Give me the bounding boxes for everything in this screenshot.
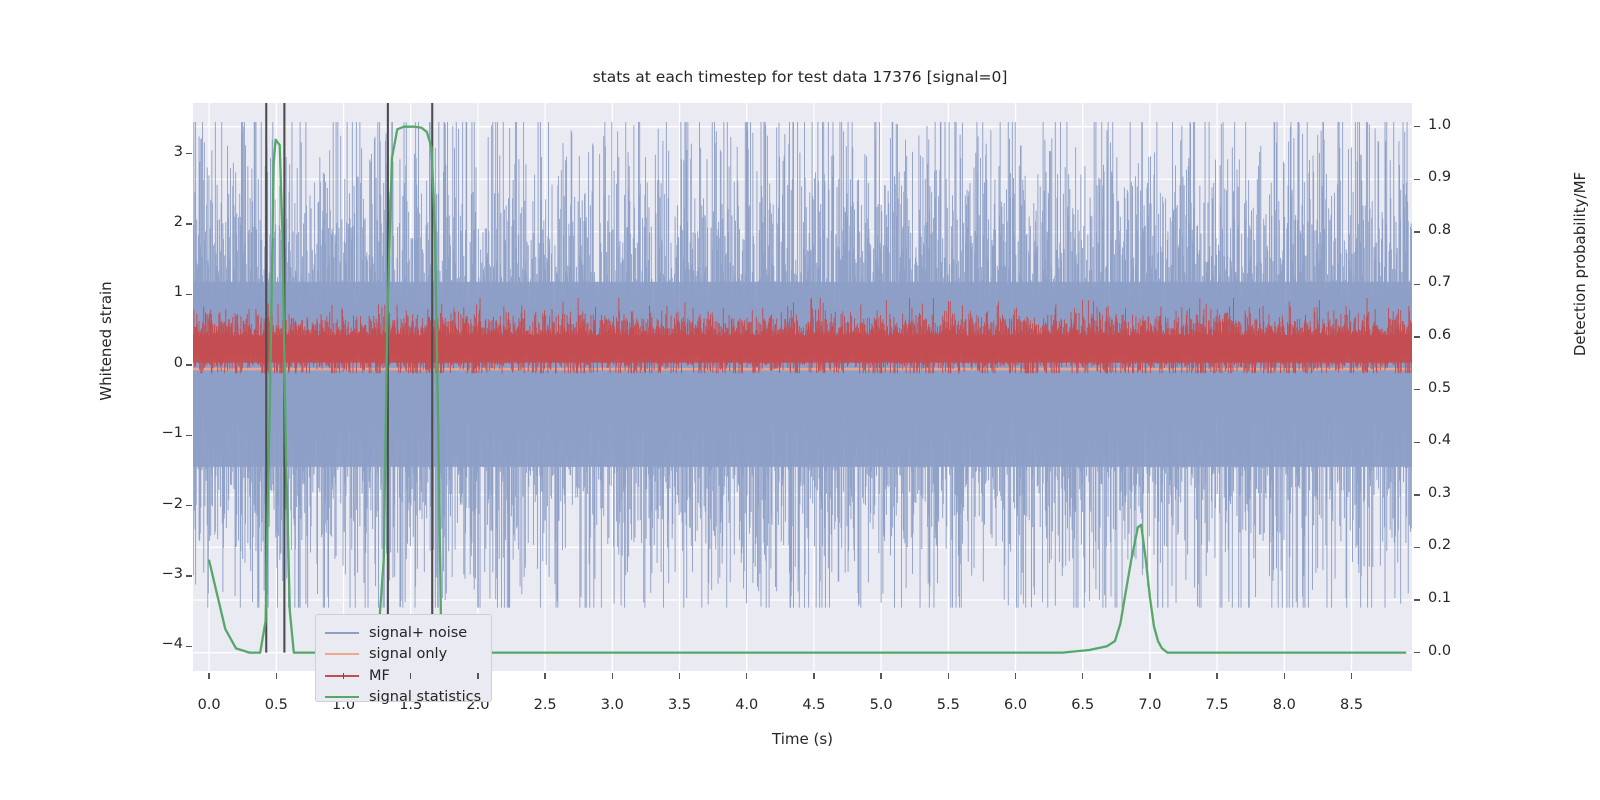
x-axis-tick-label: 0.0 — [179, 697, 239, 713]
x-axis-tick-mark — [544, 673, 545, 679]
x-axis-tick-label: 3.0 — [582, 697, 642, 713]
x-axis-tick-mark — [343, 673, 344, 679]
legend-item-signal-noise[interactable]: signal+ noise — [316, 622, 491, 644]
x-axis-tick-label: 6.5 — [1053, 697, 1113, 713]
y-axis-right-tick-label: 0.4 — [1428, 432, 1476, 448]
x-axis-tick-label: 6.0 — [986, 697, 1046, 713]
y-axis-right-tick-mark — [1414, 599, 1420, 600]
legend-swatch-signal-statistics — [325, 696, 359, 698]
y-axis-left-tick-mark — [186, 223, 192, 224]
x-axis-tick-label: 5.5 — [918, 697, 978, 713]
y-axis-left-label: Whitened strain — [97, 211, 115, 471]
x-axis-tick-mark — [276, 673, 277, 679]
x-axis-tick-mark — [746, 673, 747, 679]
y-axis-left-tick-label: 3 — [143, 144, 183, 160]
legend-item-signal-statistics[interactable]: signal statistics — [316, 687, 491, 709]
x-axis-tick-mark — [880, 673, 881, 679]
y-axis-left-tick-mark — [186, 364, 192, 365]
y-axis-left-tick-label: −4 — [143, 636, 183, 652]
y-axis-right-tick-label: 0.6 — [1428, 327, 1476, 343]
x-axis-tick-mark — [612, 673, 613, 679]
legend: signal+ noise signal only MF signal stat… — [315, 614, 492, 702]
legend-label-signal-noise: signal+ noise — [369, 625, 467, 641]
x-axis-tick-mark — [679, 673, 680, 679]
y-axis-right-tick-label: 1.0 — [1428, 117, 1476, 133]
legend-swatch-signal-only — [325, 653, 359, 655]
x-axis-tick-label: 3.5 — [650, 697, 710, 713]
x-axis-tick-mark — [208, 673, 209, 679]
y-axis-right-tick-mark — [1414, 126, 1420, 127]
x-axis-tick-mark — [813, 673, 814, 679]
x-axis-tick-label: 7.5 — [1187, 697, 1247, 713]
y-axis-right-tick-mark — [1414, 652, 1420, 653]
y-axis-right-tick-label: 0.9 — [1428, 169, 1476, 185]
y-axis-right-tick-label: 0.7 — [1428, 274, 1476, 290]
y-axis-right-tick-label: 0.3 — [1428, 485, 1476, 501]
y-axis-right-tick-label: 0.5 — [1428, 380, 1476, 396]
y-axis-right-tick-mark — [1414, 231, 1420, 232]
y-axis-right-tick-label: 0.1 — [1428, 590, 1476, 606]
plot-area — [193, 103, 1412, 671]
x-axis-tick-label: 2.5 — [515, 697, 575, 713]
x-axis-label: Time (s) — [193, 730, 1412, 748]
y-axis-left-tick-label: 2 — [143, 214, 183, 230]
chart-title: stats at each timestep for test data 173… — [0, 68, 1600, 86]
x-axis-tick-label: 5.0 — [851, 697, 911, 713]
x-axis-tick-label: 7.0 — [1120, 697, 1180, 713]
y-axis-left-tick-label: −1 — [143, 425, 183, 441]
y-axis-right-tick-label: 0.2 — [1428, 537, 1476, 553]
x-axis-tick-mark — [1015, 673, 1016, 679]
y-axis-left-tick-mark — [186, 153, 192, 154]
legend-swatch-signal-noise — [325, 632, 359, 634]
y-axis-right-tick-mark — [1414, 284, 1420, 285]
y-axis-right-tick-mark — [1414, 336, 1420, 337]
x-axis-tick-mark — [477, 673, 478, 679]
y-axis-right-tick-mark — [1414, 442, 1420, 443]
y-axis-left-tick-label: 1 — [143, 284, 183, 300]
figure-canvas: stats at each timestep for test data 173… — [0, 0, 1600, 800]
x-axis-tick-mark — [1284, 673, 1285, 679]
x-axis-tick-label: 4.0 — [717, 697, 777, 713]
y-axis-left-tick-label: −3 — [143, 566, 183, 582]
legend-item-signal-only[interactable]: signal only — [316, 644, 491, 666]
x-axis-tick-mark — [1351, 673, 1352, 679]
y-axis-left-tick-mark — [186, 435, 192, 436]
x-axis-tick-label: 4.5 — [784, 697, 844, 713]
x-axis-tick-mark — [948, 673, 949, 679]
y-axis-left-tick-mark — [186, 646, 192, 647]
x-axis-tick-mark — [410, 673, 411, 679]
x-axis-tick-mark — [1149, 673, 1150, 679]
x-axis-tick-mark — [1216, 673, 1217, 679]
y-axis-left-tick-mark — [186, 505, 192, 506]
y-axis-left-tick-label: 0 — [143, 355, 183, 371]
y-axis-right-tick-label: 0.8 — [1428, 222, 1476, 238]
x-axis-tick-label: 0.5 — [246, 697, 306, 713]
x-axis-tick-mark — [1082, 673, 1083, 679]
y-axis-right-tick-mark — [1414, 494, 1420, 495]
y-axis-right-tick-mark — [1414, 547, 1420, 548]
y-axis-right-label: Detection probability/MF — [1571, 104, 1589, 424]
legend-label-signal-statistics: signal statistics — [369, 689, 481, 705]
y-axis-right-tick-label: 0.0 — [1428, 643, 1476, 659]
legend-label-signal-only: signal only — [369, 646, 447, 662]
y-axis-right-tick-mark — [1414, 179, 1420, 180]
x-axis-tick-label: 8.5 — [1322, 697, 1382, 713]
legend-label-mf: MF — [369, 668, 390, 684]
y-axis-left-tick-mark — [186, 294, 192, 295]
x-axis-tick-label: 8.0 — [1254, 697, 1314, 713]
y-axis-right-tick-mark — [1414, 389, 1420, 390]
plot-svg — [193, 103, 1412, 671]
y-axis-left-tick-mark — [186, 575, 192, 576]
y-axis-left-tick-label: −2 — [143, 496, 183, 512]
